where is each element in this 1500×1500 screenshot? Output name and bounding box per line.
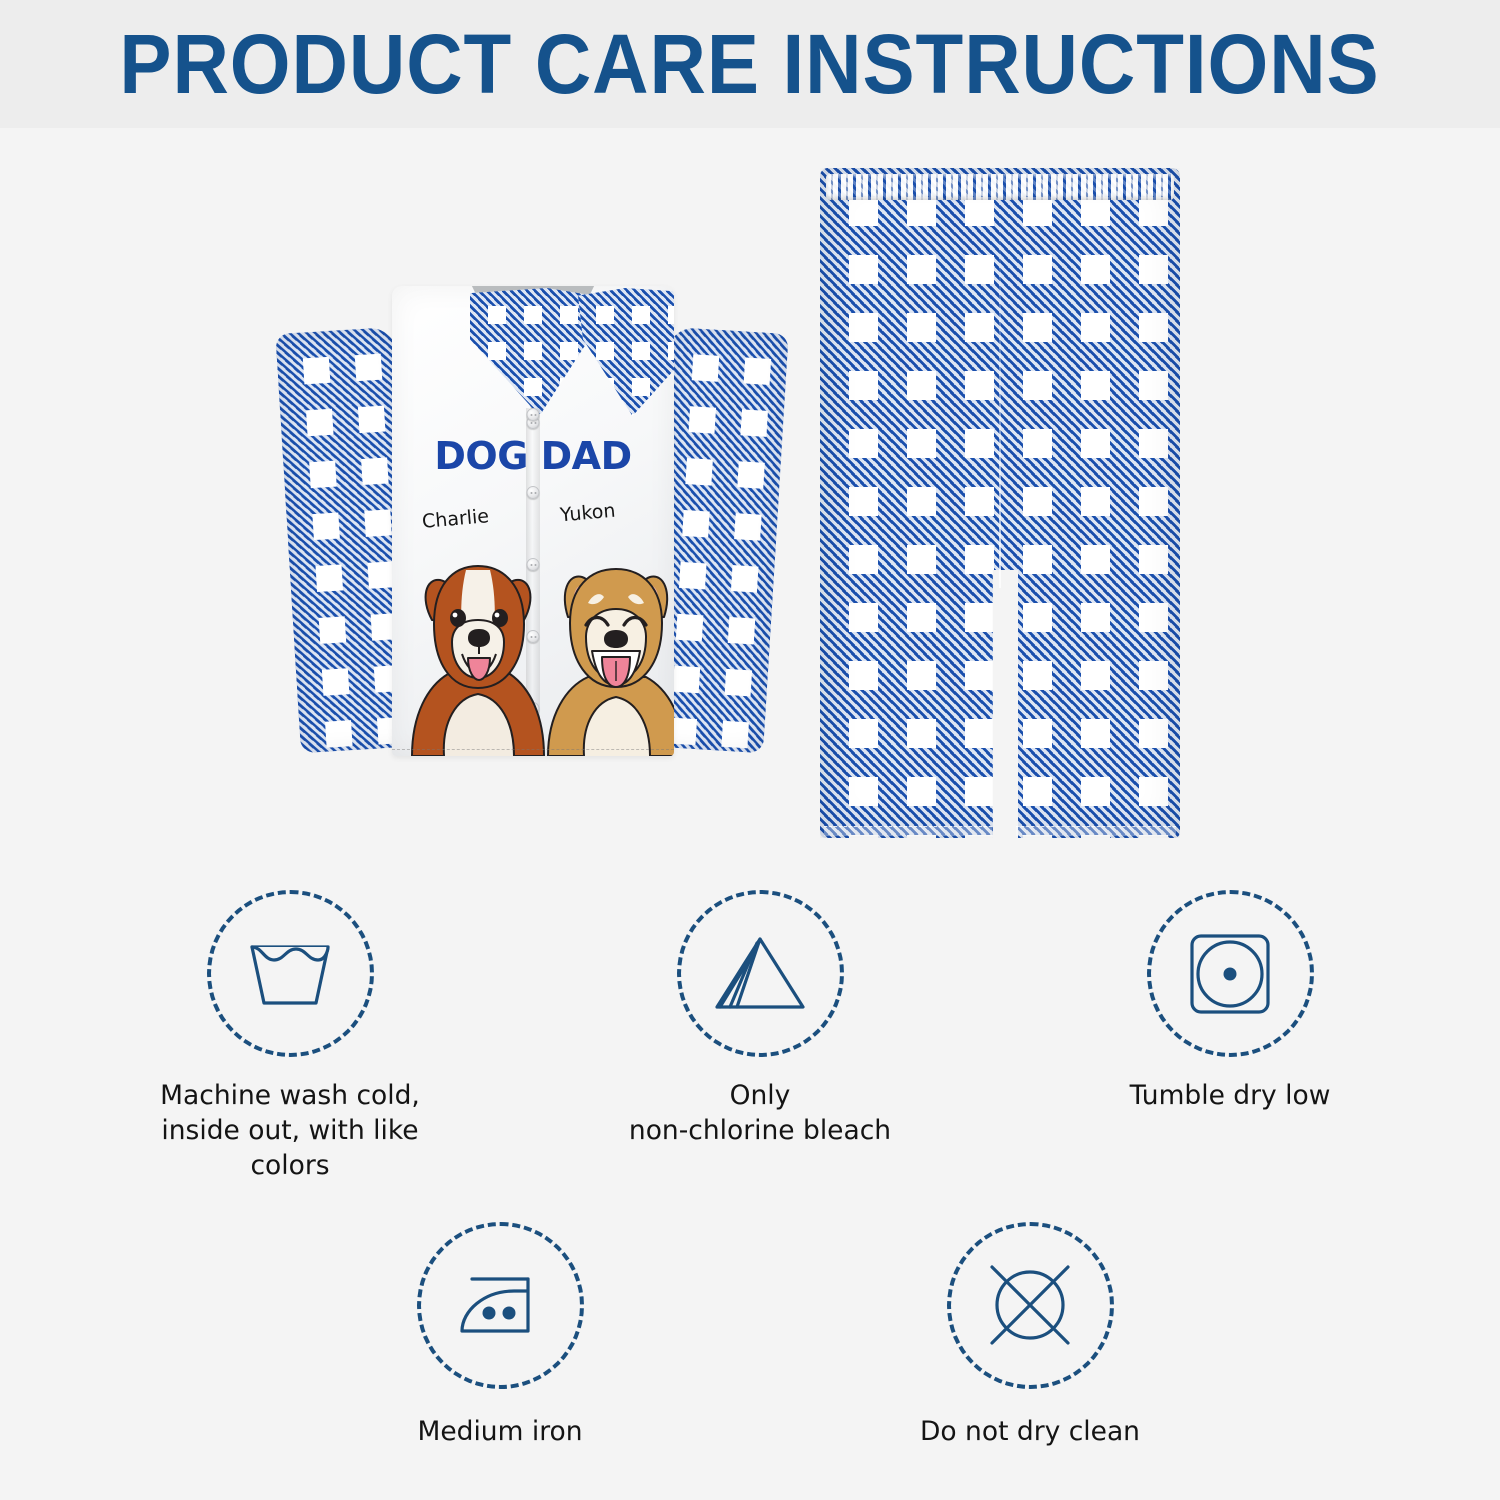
non-chlorine-bleach-icon — [713, 933, 807, 1015]
tumble-dry-low-icon — [1187, 931, 1273, 1017]
pajama-pants — [820, 168, 1180, 838]
collar-left — [470, 288, 594, 416]
pajama-top-body: DOG DAD Charlie Yukon — [392, 286, 674, 756]
shirt-button — [527, 486, 540, 499]
shirt-hem — [392, 749, 674, 750]
care-row-bottom: Medium iron Do not dry clean — [0, 1222, 1500, 1450]
care-icon-circle — [1147, 890, 1314, 1057]
header-band: PRODUCT CARE INSTRUCTIONS — [0, 0, 1500, 128]
care-icon-circle — [677, 890, 844, 1057]
pants-cuff-left — [824, 826, 992, 836]
care-item-medium-iron: Medium iron — [335, 1222, 665, 1450]
medium-iron-icon — [452, 1269, 548, 1341]
care-label: Tumble dry low — [1130, 1079, 1331, 1114]
dog-illustration-charlie — [404, 546, 554, 756]
dog-illustration-yukon — [542, 551, 674, 756]
shirt-button — [527, 408, 540, 421]
care-icon-circle — [207, 890, 374, 1057]
pants-cuff-right — [1016, 826, 1176, 836]
care-icon-circle — [417, 1222, 584, 1389]
collar-right — [578, 288, 674, 416]
pants-waistband — [826, 174, 1174, 200]
pajama-top: DOG DAD Charlie Yukon — [288, 238, 776, 783]
care-label: Medium iron — [417, 1415, 582, 1450]
care-item-machine-wash: Machine wash cold, inside out, with like… — [125, 890, 455, 1184]
care-instructions-section: Machine wash cold, inside out, with like… — [0, 890, 1500, 1500]
care-item-tumble-dry-low: Tumble dry low — [1065, 890, 1395, 1114]
product-image: DOG DAD Charlie Yukon — [0, 128, 1500, 888]
care-item-do-not-dry-clean: Do not dry clean — [865, 1222, 1195, 1450]
do-not-dry-clean-icon — [984, 1259, 1076, 1351]
pet-name-charlie: Charlie — [421, 505, 490, 533]
pants-seam — [999, 206, 1001, 588]
care-label: Only non-chlorine bleach — [629, 1079, 891, 1149]
care-label: Do not dry clean — [920, 1415, 1140, 1450]
care-row-top: Machine wash cold, inside out, with like… — [0, 890, 1500, 1184]
shirt-graphic-title: DOG DAD — [392, 434, 674, 478]
pet-name-yukon: Yukon — [559, 500, 616, 527]
care-label: Machine wash cold, inside out, with like… — [125, 1079, 455, 1184]
care-item-non-chlorine-bleach: Only non-chlorine bleach — [595, 890, 925, 1149]
care-icon-circle — [947, 1222, 1114, 1389]
machine-wash-cold-icon — [242, 933, 338, 1015]
page-title: PRODUCT CARE INSTRUCTIONS — [120, 22, 1380, 106]
